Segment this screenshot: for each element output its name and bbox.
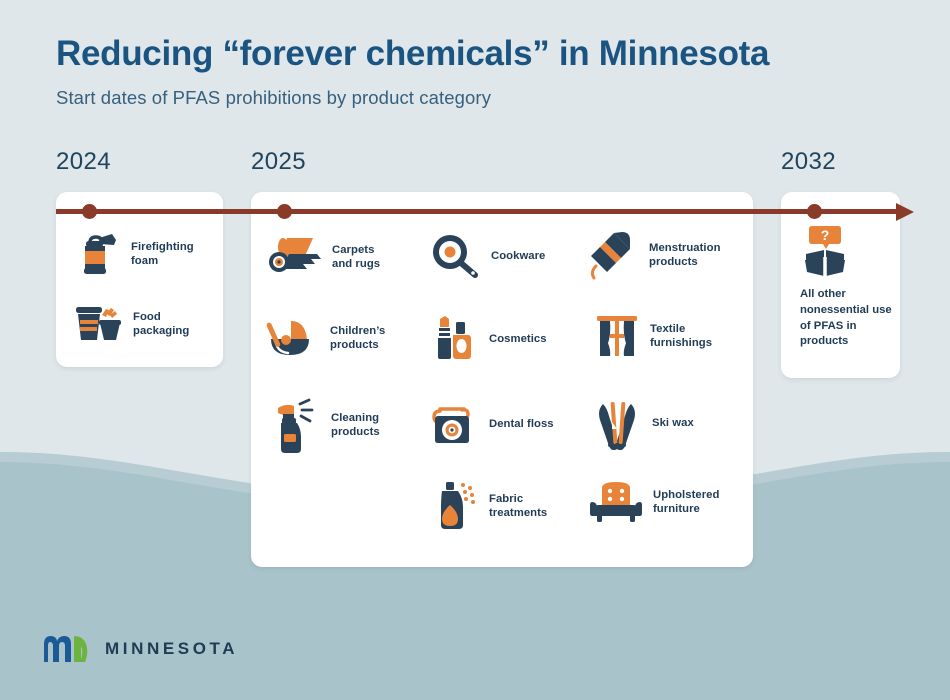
mn-state-logo	[42, 634, 88, 664]
list-item[interactable]: Firefightingfoam	[70, 228, 194, 280]
frying-pan-icon	[428, 232, 482, 280]
list-item[interactable]: ?	[800, 224, 850, 282]
page-title: Reducing “forever chemicals” in Minnesot…	[56, 36, 896, 73]
childrens-toy-icon	[265, 313, 321, 363]
year-label-2032: 2032	[781, 148, 836, 176]
item-label: Ski wax	[652, 416, 694, 430]
timeline-dot-2032[interactable]	[807, 204, 822, 219]
dental-floss-icon	[428, 398, 480, 450]
year-label-2024: 2024	[56, 148, 111, 176]
skis-icon	[593, 396, 643, 450]
item-label: Carpetsand rugs	[332, 243, 380, 272]
list-item[interactable]: Dental floss	[428, 398, 554, 450]
item-label: Menstruationproducts	[649, 241, 721, 270]
list-item[interactable]: Upholsteredfurniture	[588, 478, 719, 526]
list-item[interactable]: Foodpackaging	[70, 299, 189, 349]
arrow-right-icon	[896, 203, 914, 221]
item-label: Textilefurnishings	[650, 322, 712, 351]
logo-wordmark: MINNESOTA	[105, 639, 238, 659]
list-item[interactable]: Cookware	[428, 232, 545, 280]
list-item[interactable]: Menstruationproducts	[588, 228, 721, 282]
item-label: Fabrictreatments	[489, 492, 547, 521]
header: Reducing “forever chemicals” in Minnesot…	[56, 36, 896, 109]
list-item[interactable]: Fabrictreatments	[432, 478, 547, 534]
list-item[interactable]: Ski wax	[593, 396, 694, 450]
carpet-roll-icon	[265, 232, 323, 282]
item-label: Cleaningproducts	[331, 411, 380, 440]
list-item[interactable]: Cleaningproducts	[270, 396, 380, 454]
mystery-box-icon: ?	[800, 224, 850, 282]
svg-text:?: ?	[821, 227, 830, 243]
timeline	[56, 202, 928, 222]
fabric-spray-icon	[432, 478, 480, 534]
item-label: Cosmetics	[489, 332, 547, 346]
timeline-dot-2024[interactable]	[82, 204, 97, 219]
timeline-dot-2025[interactable]	[277, 204, 292, 219]
lipstick-nailpolish-icon	[432, 313, 480, 365]
curtains-icon	[593, 310, 641, 362]
food-packaging-icon	[70, 299, 124, 349]
tampon-icon	[588, 228, 640, 282]
list-item[interactable]: Cosmetics	[432, 313, 547, 365]
armchair-icon	[588, 478, 644, 526]
item-label: All other nonessential use of PFAS in pr…	[800, 287, 896, 350]
timeline-line	[56, 209, 902, 214]
item-label: Foodpackaging	[133, 310, 189, 339]
item-label: Children’sproducts	[330, 324, 385, 353]
fire-extinguisher-icon	[70, 228, 122, 280]
list-item[interactable]: Textilefurnishings	[593, 310, 712, 362]
item-label: Upholsteredfurniture	[653, 488, 719, 517]
page-subtitle: Start dates of PFAS prohibitions by prod…	[56, 87, 896, 109]
list-item[interactable]: Children’sproducts	[265, 313, 385, 363]
item-label: Cookware	[491, 249, 545, 263]
year-label-2025: 2025	[251, 148, 306, 176]
list-item[interactable]: Carpetsand rugs	[265, 232, 380, 282]
spray-bottle-icon	[270, 396, 322, 454]
footer-logo: MINNESOTA	[42, 634, 238, 664]
item-label: Dental floss	[489, 417, 554, 431]
item-label: Firefightingfoam	[131, 240, 194, 269]
